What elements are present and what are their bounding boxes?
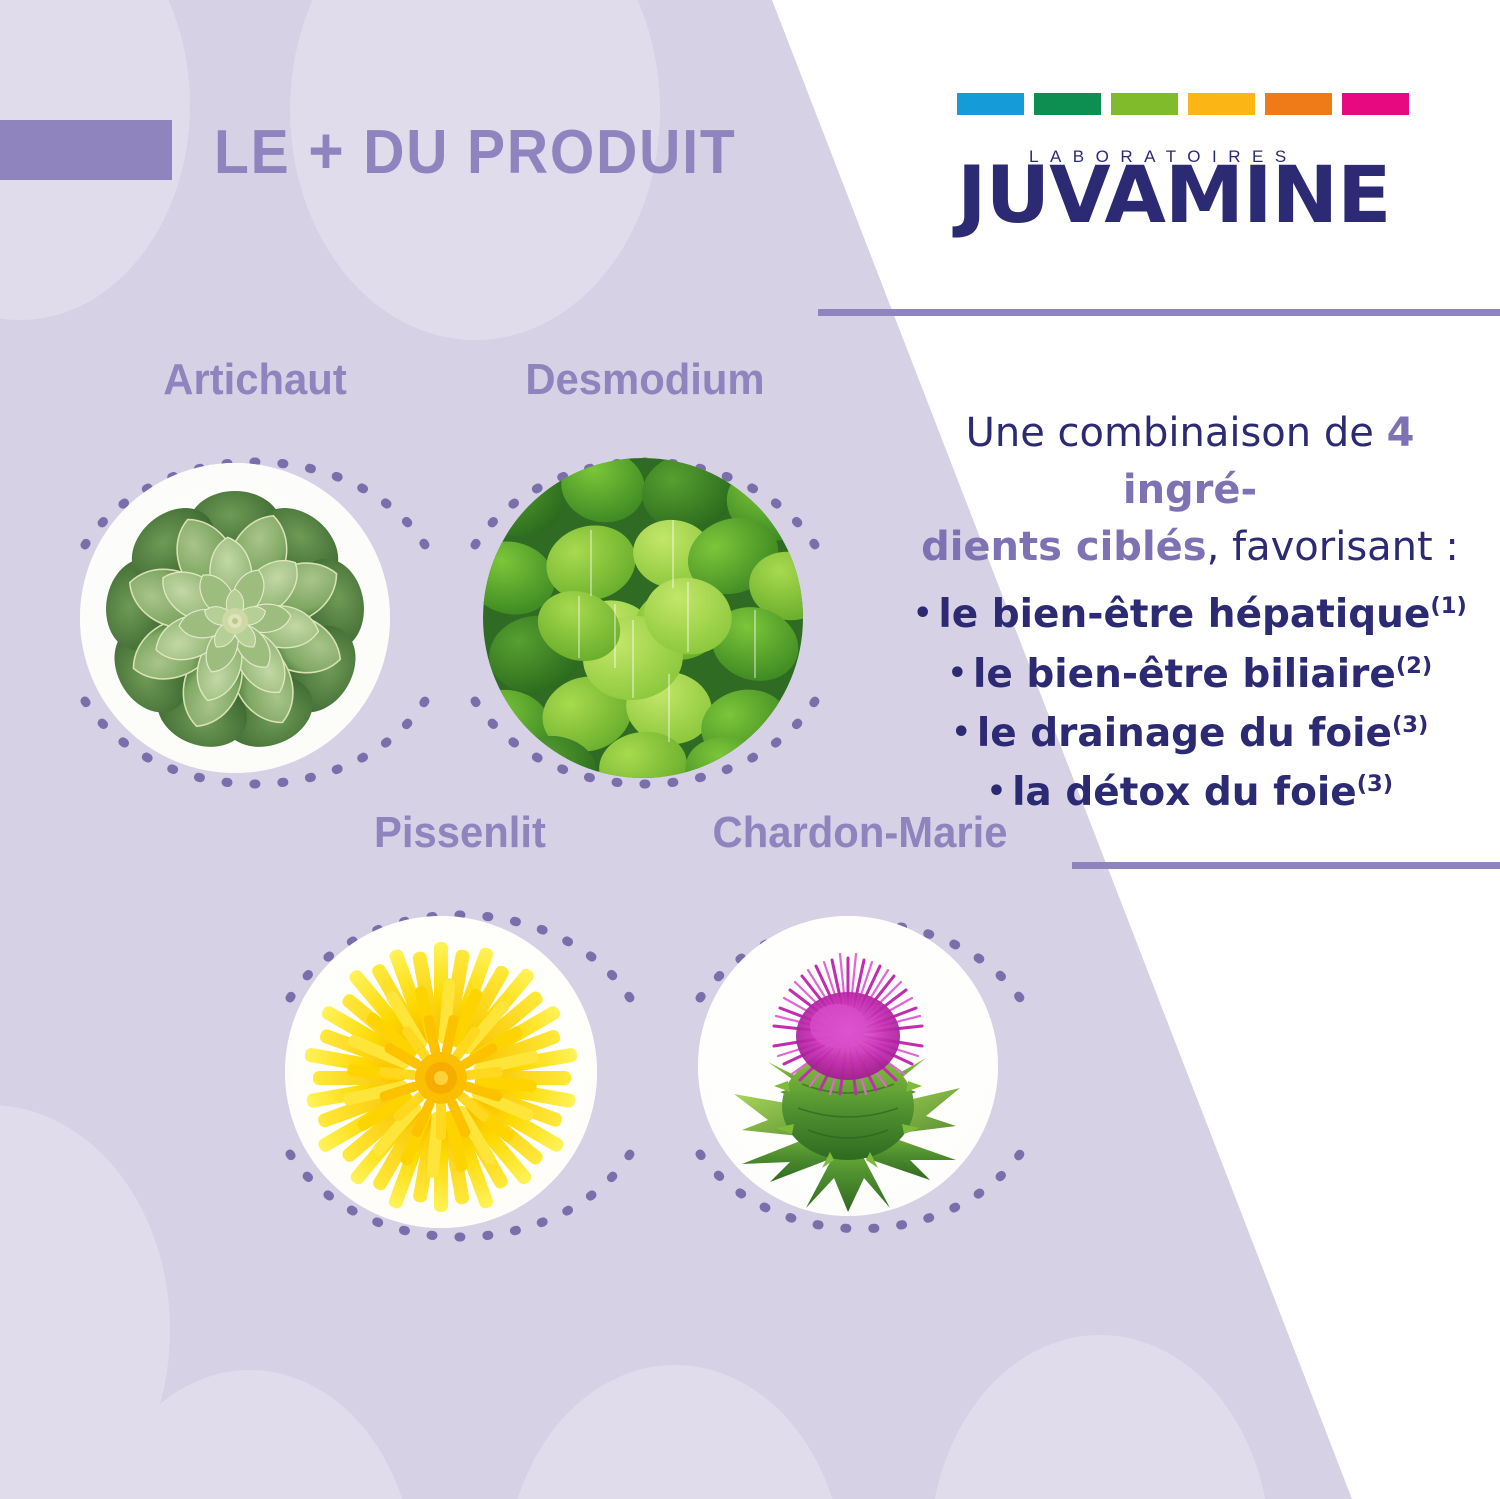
desmodium-leaves-photo [483, 458, 803, 778]
product-infographic: LE + DU PRODUIT LABORATOIRES JUVAMINE Un… [0, 0, 1500, 1499]
claim-note-4: (3) [1357, 771, 1393, 797]
claim-item-biliaire: •le bien-être biliaire(2) [900, 645, 1480, 704]
milk-thistle-photo [698, 916, 998, 1216]
ingredient-label-desmodium: Desmodium [455, 355, 835, 405]
ingredient-image-chardon-marie [698, 916, 998, 1216]
claims-lead-part1: Une combinaison de [966, 410, 1387, 456]
page-title-before: LE [214, 118, 308, 187]
ingredient-chardon-marie: Chardon-Marie [660, 808, 1060, 1258]
logo-bar-amber [1188, 93, 1255, 115]
ingredient-label-artichaut: Artichaut [65, 355, 445, 405]
divider-bottom [1072, 862, 1500, 869]
claim-text-2: le bien-être biliaire [973, 652, 1396, 697]
bullet-icon-1: • [913, 596, 932, 631]
plus-icon: + [308, 113, 345, 187]
claims-lead-part2: , favorisant : [1207, 524, 1459, 570]
ingredient-artichaut: Artichaut [55, 355, 455, 805]
page-title-after: DU PRODUIT [346, 118, 737, 187]
logo-bar-lime [1111, 93, 1178, 115]
ingredient-image-artichaut [80, 463, 390, 773]
claim-text-3: le drainage du foie [977, 711, 1392, 756]
dandelion-photo [285, 916, 597, 1228]
artichoke-photo [80, 463, 390, 773]
brand-logo: LABORATOIRES JUVAMINE [957, 93, 1409, 231]
logo-bar-blue [957, 93, 1024, 115]
ingredient-pissenlit: Pissenlit [260, 808, 660, 1258]
bullet-icon-4: • [987, 774, 1006, 809]
claim-note-3: (3) [1392, 712, 1428, 738]
logo-color-bars [957, 93, 1409, 115]
bullet-icon-3: • [952, 715, 971, 750]
claims-highlight-line2: dients ciblés [921, 524, 1207, 570]
claim-text-4: la détox du foie [1012, 770, 1357, 815]
claim-item-hepatique: •le bien-être hépatique(1) [900, 585, 1480, 644]
claims-lead: Une combinaison de 4 ingré- dients ciblé… [900, 405, 1480, 575]
logo-bar-green [1034, 93, 1101, 115]
claim-note-1: (1) [1430, 593, 1466, 619]
claim-item-drainage: •le drainage du foie(3) [900, 704, 1480, 763]
ingredient-desmodium: Desmodium [445, 355, 845, 805]
logo-brand-text: JUVAMINE [957, 151, 1391, 241]
claim-text-1: le bien-être hépatique [938, 592, 1430, 637]
claim-note-2: (2) [1396, 653, 1432, 679]
ingredient-label-pissenlit: Pissenlit [270, 808, 650, 858]
page-title: LE + DU PRODUIT [214, 112, 737, 188]
claims-block: Une combinaison de 4 ingré- dients ciblé… [900, 405, 1480, 822]
logo-brand-name: JUVAMINE [957, 157, 1391, 235]
ingredient-image-pissenlit [285, 916, 597, 1228]
title-accent-bar [0, 120, 172, 180]
ingredient-label-chardon-marie: Chardon-Marie [670, 808, 1050, 858]
ingredient-image-desmodium [483, 458, 803, 778]
logo-bar-magenta [1342, 93, 1409, 115]
bullet-icon-2: • [948, 656, 967, 691]
logo-bar-orange [1265, 93, 1332, 115]
divider-top [818, 309, 1500, 316]
claims-list: •le bien-être hépatique(1) •le bien-être… [900, 585, 1480, 822]
